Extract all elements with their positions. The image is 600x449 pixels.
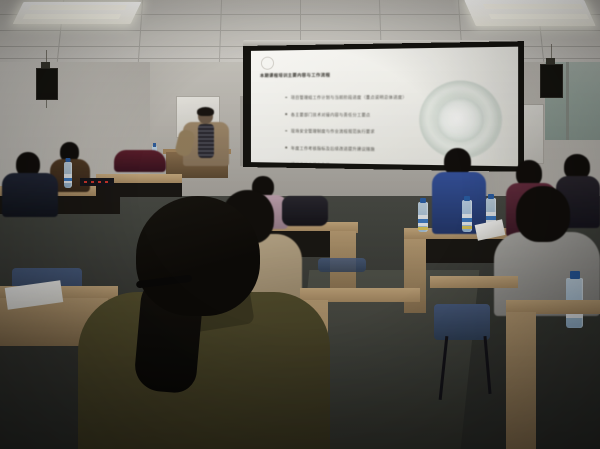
attendee-gray-right	[494, 186, 600, 314]
presenter	[181, 108, 231, 166]
bottled-water	[418, 202, 428, 232]
light-wood-desk	[430, 276, 518, 288]
slide-title: 本期课程培训主要内容与工作流程	[260, 71, 504, 79]
bullet-dot-icon	[285, 163, 287, 165]
wall-speaker-right	[540, 64, 563, 98]
presenter-shirt	[198, 124, 214, 158]
attendee-head	[516, 186, 570, 242]
bullet-dot-icon	[285, 96, 287, 98]
presenter-hair	[197, 107, 214, 116]
attendee-navy-left	[2, 152, 58, 214]
blue-folding-chair[interactable]	[434, 304, 490, 340]
bullet-dot-icon	[285, 147, 287, 149]
attendee-head	[136, 196, 260, 316]
presentation-logo-icon	[261, 57, 274, 70]
bullet-dot-icon	[285, 130, 287, 132]
wall-speaker-left	[36, 68, 58, 100]
slide-bullet-text: 各主要部门技术对接内容与责任分工要点	[291, 112, 371, 118]
slide-bullet-text: 年度工作考核指标及后续改进提升建议措施	[291, 145, 375, 152]
bottled-water	[462, 200, 472, 232]
black-bag-on-desk	[114, 150, 166, 172]
slide-bullet-text: 现场安全管理制度与作业流程规范执行要求	[291, 128, 375, 135]
slide-bullet-text: 项目管理组工作计划与当前阶段进度（重点说明总体进度）	[291, 94, 407, 100]
attendee-blue-right	[432, 148, 486, 232]
attendee-body	[2, 173, 58, 217]
bullet-dot-icon	[285, 113, 287, 115]
desk-electronic-device	[80, 178, 114, 186]
classroom-scene: 本期课程培训主要内容与工作流程 项目管理组工作计划与当前阶段进度（重点说明总体进…	[0, 0, 600, 449]
attendee-foreground-olive	[78, 196, 330, 449]
slide-bullet-text: 培训考核安排与办法	[291, 162, 330, 167]
bottled-water	[64, 162, 72, 188]
desk-side-panel	[506, 312, 536, 449]
